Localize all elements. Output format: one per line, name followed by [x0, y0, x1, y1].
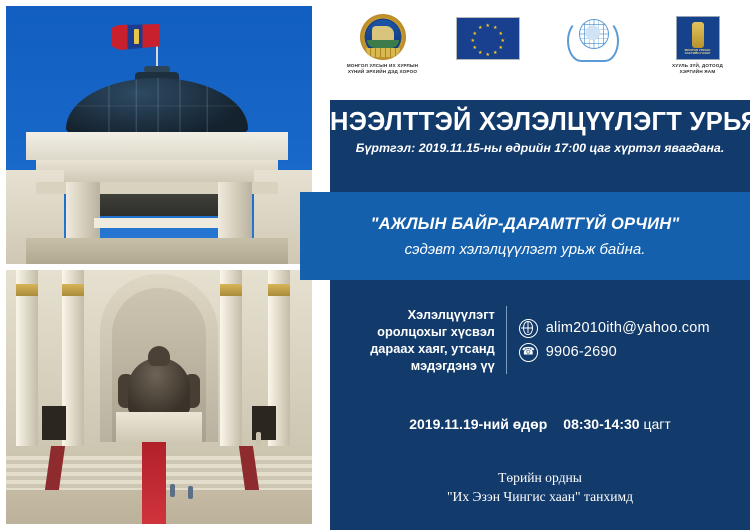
photo-column — [0, 0, 318, 530]
photo-government-palace-dome — [6, 6, 312, 264]
photo-chinggis-khaan-statue — [6, 270, 312, 524]
logo-european-union: ★ ★ ★ ★ ★ ★ ★ ★ ★ ★ ★ ★ — [436, 14, 540, 63]
palace-doorway-left — [42, 406, 66, 440]
person-figure — [170, 484, 175, 497]
palace-base — [26, 238, 288, 264]
logo-caption-line2: ХЭРГИЙН ЯАМ — [646, 69, 750, 75]
registration-deadline-text: Бүртгэл: 2019.11.15-ны өдрийн 17:00 цаг … — [330, 141, 750, 155]
colonnade-pillar — [16, 270, 38, 446]
eu-flag-icon: ★ ★ ★ ★ ★ ★ ★ ★ ★ ★ ★ ★ — [456, 17, 520, 60]
chinggis-khaan-statue-body — [128, 358, 190, 414]
contact-email-row[interactable]: alim2010ith@yahoo.com — [519, 319, 710, 338]
soyombo-symbol-icon — [134, 29, 139, 44]
contact-details: alim2010ith@yahoo.com ☎ 9906-2690 — [507, 314, 710, 367]
logo-strip: МОНГОЛ УЛСЫН ИХ ХУРЛЫН ХҮНИЙ ЭРХИЙН ДЭД … — [330, 0, 750, 100]
palace-entablature — [36, 160, 278, 182]
contact-phone-row[interactable]: ☎ 9906-2690 — [519, 343, 710, 362]
contact-section: Хэлэлцүүлэгт оролцохыг хүсвэл дараах хая… — [330, 306, 750, 374]
logo-united-nations — [541, 14, 645, 65]
topic-title: "АЖЛЫН БАЙР-ДАРАМТГҮЙ ОРЧИН" — [371, 215, 680, 234]
topic-invitation-text: сэдэвт хэлэлцүүлэгт урьж байна. — [405, 241, 646, 258]
contact-phone[interactable]: 9906-2690 — [546, 344, 617, 360]
page-title: НЭЭЛТТЭЙ ХЭЛЭЛЦҮҮЛЭГТ УРЬЯ — [330, 108, 750, 137]
person-figure — [256, 432, 261, 445]
ministry-emblem-icon: МОНГОЛ УЛСЫН ЗАСГИЙН ГАЗАР — [676, 16, 720, 60]
ministry-inner-label-line2: ЗАСГИЙН ГАЗАР — [680, 52, 716, 56]
contact-email[interactable]: alim2010ith@yahoo.com — [546, 320, 710, 336]
contact-prompt-line2: оролцохыг хүсвэл — [370, 323, 495, 340]
parliament-emblem-icon — [360, 14, 406, 60]
title-block: НЭЭЛТТЭЙ ХЭЛЭЛЦҮҮЛЭГТ УРЬЯ Бүртгэл: 2019… — [330, 108, 750, 155]
event-venue: Төрийн ордны "Их Эзэн Чингис хаан" танхи… — [330, 468, 750, 506]
event-time: 08:30-14:30 — [563, 416, 639, 432]
contact-prompt-line4: мэдэгдэнэ үү — [370, 357, 495, 374]
chinggis-khaan-statue-head — [148, 346, 170, 366]
contact-prompt-line1: Хэлэлцүүлэгт — [370, 306, 495, 323]
phone-icon: ☎ — [519, 343, 538, 362]
event-date: 2019.11.19-ний өдөр — [409, 416, 547, 432]
pillar-gold-band — [62, 284, 84, 296]
red-carpet — [142, 442, 166, 524]
person-figure — [188, 486, 193, 499]
un-emblem-icon — [565, 14, 621, 62]
logo-ministry-justice-home-affairs: МОНГОЛ УЛСЫН ЗАСГИЙН ГАЗАР ХУУЛЬ ЗҮЙ, ДО… — [646, 14, 750, 76]
contact-prompt-line3: дараах хаяг, утсанд — [370, 340, 495, 357]
pillar-gold-band — [220, 284, 242, 296]
event-datetime: 2019.11.19-ний өдөр08:30-14:30 цагт — [330, 416, 750, 432]
pillar-gold-band — [268, 284, 290, 296]
logo-caption-line2: ХҮНИЙ ЭРХИЙН ДЭД ХОРОО — [331, 69, 435, 75]
logo-parliament-human-rights-subcommittee: МОНГОЛ УЛСЫН ИХ ХУРЛЫН ХҮНИЙ ЭРХИЙН ДЭД … — [331, 14, 435, 76]
poster-canvas: МОНГОЛ УЛСЫН ИХ ХУРЛЫН ХҮНИЙ ЭРХИЙН ДЭД … — [0, 0, 750, 530]
statue-plinth — [116, 412, 202, 444]
content-panel: НЭЭЛТТЭЙ ХЭЛЭЛЦҮҮЛЭГТ УРЬЯ Бүртгэл: 2019… — [330, 100, 750, 530]
topic-highlight-box: "АЖЛЫН БАЙР-ДАРАМТГҮЙ ОРЧИН" сэдэвт хэлэ… — [300, 192, 750, 280]
pillar-gold-band — [16, 284, 38, 296]
contact-prompt: Хэлэлцүүлэгт оролцохыг хүсвэл дараах хая… — [370, 306, 507, 374]
palace-cornice — [26, 132, 288, 160]
venue-line2: "Их Эзэн Чингис хаан" танхимд — [330, 487, 750, 506]
event-time-suffix: цагт — [643, 416, 670, 432]
palace-lintel — [94, 218, 220, 228]
colonnade-pillar — [220, 270, 242, 446]
globe-icon — [519, 319, 538, 338]
venue-line1: Төрийн ордны — [330, 468, 750, 487]
